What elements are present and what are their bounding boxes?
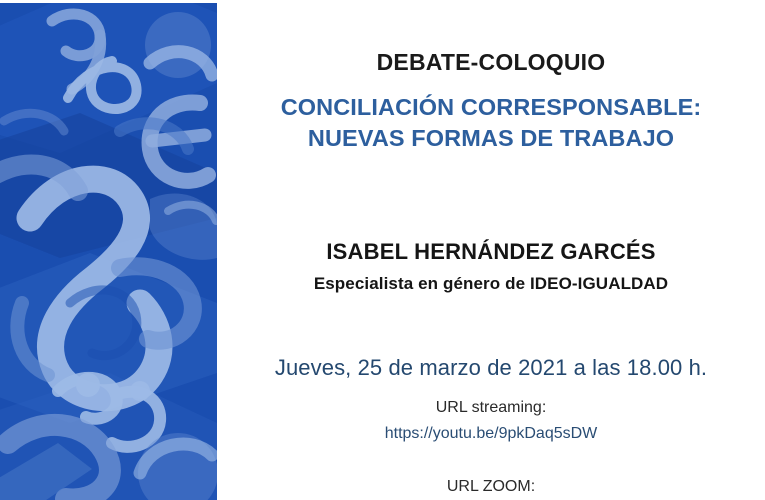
decorative-art-panel [0, 3, 217, 500]
poster-content: DEBATE-COLOQUIO CONCILIACIÓN CORRESPONSA… [217, 0, 765, 500]
event-date: Jueves, 25 de marzo de 2021 a las 18.00 … [217, 356, 765, 381]
main-title: CONCILIACIÓN CORRESPONSABLE: NUEVAS FORM… [217, 92, 765, 155]
speaker-role: Especialista en género de IDEO-IGUALDAD [217, 274, 765, 293]
poster-canvas: DEBATE-COLOQUIO CONCILIACIÓN CORRESPONSA… [0, 0, 765, 500]
speaker-name: ISABEL HERNÁNDEZ GARCÉS [217, 240, 765, 265]
abstract-letterform-pattern-icon [0, 3, 217, 500]
main-title-line-2: NUEVAS FORMAS DE TRABAJO [217, 123, 765, 154]
kicker-heading: DEBATE-COLOQUIO [217, 50, 765, 76]
zoom-label: URL ZOOM: [217, 478, 765, 496]
main-title-line-1: CONCILIACIÓN CORRESPONSABLE: [217, 92, 765, 123]
streaming-label: URL streaming: [217, 399, 765, 417]
streaming-url-link[interactable]: https://youtu.be/9pkDaq5sDW [217, 425, 765, 443]
